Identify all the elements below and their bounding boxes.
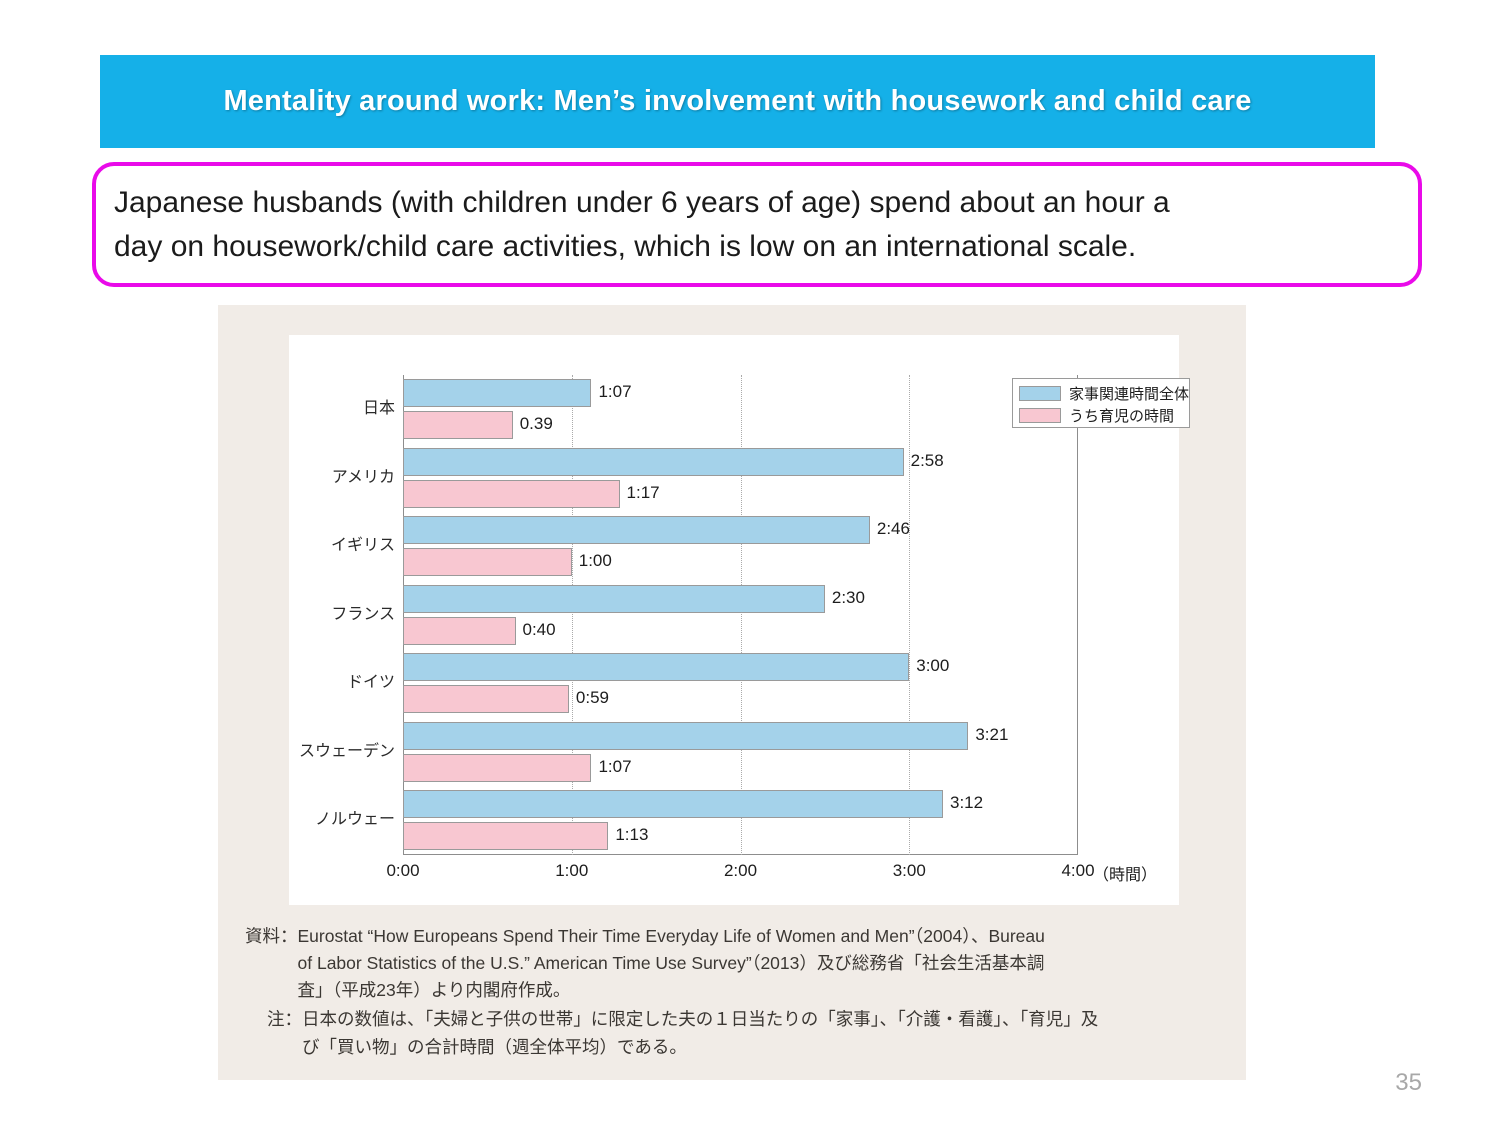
bar-total: [403, 516, 870, 544]
legend-label-total: 家事関連時間全体: [1069, 383, 1189, 404]
bar-value-label: 3:12: [950, 793, 983, 813]
figure-footnotes: 資料： Eurostat “How Europeans Spend Their …: [245, 923, 1235, 1063]
x-tick-label: 1:00: [555, 861, 588, 881]
category-label: 日本: [363, 394, 395, 418]
x-tick-label: 3:00: [893, 861, 926, 881]
footnote-source-line-2: of Labor Statistics of the U.S.” America…: [298, 950, 1236, 977]
chart-row: スウェーデン3:211:07: [403, 721, 1078, 790]
footnote-source-line-1: Eurostat “How Europeans Spend Their Time…: [298, 923, 1236, 950]
legend-swatch-total-icon: [1019, 386, 1061, 401]
x-tick-label: 2:00: [724, 861, 757, 881]
bar-total: [403, 653, 909, 681]
bar-child: [403, 822, 608, 850]
category-label: フランス: [331, 600, 395, 624]
category-label: イギリス: [331, 531, 395, 555]
x-tick-label: 4:00: [1061, 861, 1094, 881]
bar-value-label: 2:30: [832, 588, 865, 608]
footnote-source-line-3: 査」（平成23年）より内閣府作成。: [298, 977, 1236, 1004]
bar-value-label: 1:00: [579, 551, 612, 571]
bar-value-label: 1:17: [627, 483, 660, 503]
bar-child: [403, 754, 591, 782]
bar-value-label: 0.39: [520, 414, 553, 434]
bar-total: [403, 722, 968, 750]
page-number: 35: [1395, 1069, 1422, 1097]
footnote-note-tag: 注：: [245, 1006, 302, 1060]
bar-value-label: 1:07: [598, 382, 631, 402]
chart-row: ノルウェー3:121:13: [403, 789, 1078, 858]
x-tick-label: 0:00: [386, 861, 419, 881]
footnote-note-body: 日本の数値は、「夫婦と子供の世帯」に限定した夫の１日当たりの「家事」、「介護・看…: [302, 1006, 1235, 1060]
chart-row: ドイツ3:000:59: [403, 652, 1078, 721]
header-band: Mentality around work: Men’s involvement…: [100, 55, 1375, 148]
callout-box: Japanese husbands (with children under 6…: [92, 162, 1422, 287]
chart-legend: 家事関連時間全体 うち育児の時間: [1012, 378, 1190, 428]
page-title: Mentality around work: Men’s involvement…: [223, 85, 1251, 118]
chart-row: フランス2:300:40: [403, 584, 1078, 653]
bar-value-label: 2:46: [877, 519, 910, 539]
bar-total: [403, 585, 825, 613]
legend-item-child: うち育児の時間: [1019, 405, 1183, 425]
footnote-note-line-2: び「買い物」の合計時間（週全体平均）である。: [302, 1034, 1235, 1061]
bar-value-label: 0:59: [576, 688, 609, 708]
bar-child: [403, 617, 516, 645]
plot-area: 日本1:070.39アメリカ2:581:17イギリス2:461:00フランス2:…: [403, 375, 1078, 855]
bar-child: [403, 411, 513, 439]
chart-row: アメリカ2:581:17: [403, 447, 1078, 516]
callout-line-2: day on housework/child care activities, …: [114, 225, 1402, 269]
legend-label-child: うち育児の時間: [1069, 405, 1174, 426]
chart-row: 日本1:070.39: [403, 378, 1078, 447]
bar-value-label: 0:40: [523, 620, 556, 640]
bar-value-label: 2:58: [911, 451, 944, 471]
bar-child: [403, 548, 572, 576]
figure-panel: 日本1:070.39アメリカ2:581:17イギリス2:461:00フランス2:…: [218, 305, 1246, 1080]
category-label: ドイツ: [347, 668, 395, 692]
bar-value-label: 3:00: [916, 656, 949, 676]
callout-line-1: Japanese husbands (with children under 6…: [114, 181, 1402, 225]
footnote-source: 資料： Eurostat “How Europeans Spend Their …: [245, 923, 1235, 1004]
legend-item-total: 家事関連時間全体: [1019, 383, 1183, 403]
chart-row: イギリス2:461:00: [403, 515, 1078, 584]
legend-swatch-child-icon: [1019, 408, 1061, 423]
bar-total: [403, 790, 943, 818]
category-label: アメリカ: [332, 463, 395, 487]
bar-total: [403, 379, 591, 407]
bar-value-label: 3:21: [975, 725, 1008, 745]
category-label: スウェーデン: [299, 737, 395, 761]
bar-total: [403, 448, 904, 476]
bar-value-label: 1:07: [598, 757, 631, 777]
footnote-note: 注： 日本の数値は、「夫婦と子供の世帯」に限定した夫の１日当たりの「家事」、「介…: [245, 1006, 1235, 1060]
bar-child: [403, 480, 620, 508]
bar-value-label: 1:13: [615, 825, 648, 845]
category-label: ノルウェー: [315, 805, 395, 829]
footnote-source-body: Eurostat “How Europeans Spend Their Time…: [298, 923, 1236, 1004]
footnote-source-tag: 資料：: [245, 923, 298, 1004]
chart-canvas: 日本1:070.39アメリカ2:581:17イギリス2:461:00フランス2:…: [289, 335, 1179, 905]
footnote-note-line-1: 日本の数値は、「夫婦と子供の世帯」に限定した夫の１日当たりの「家事」、「介護・看…: [302, 1006, 1235, 1033]
x-axis-unit-label: （時間）: [1093, 861, 1157, 885]
bar-child: [403, 685, 569, 713]
